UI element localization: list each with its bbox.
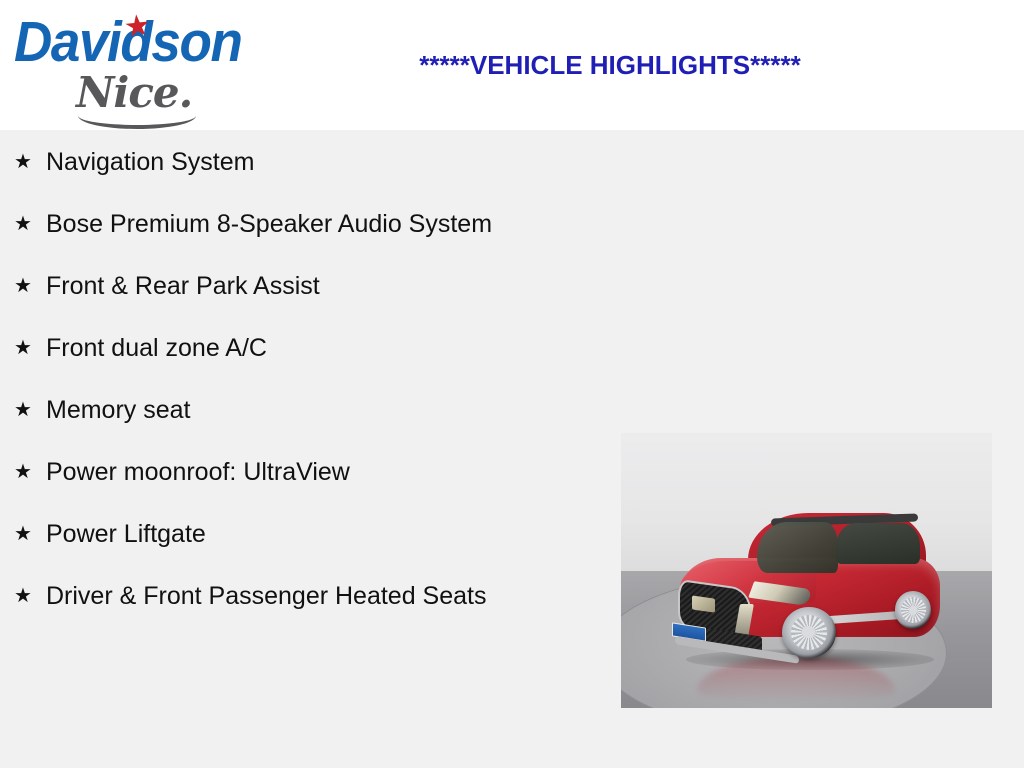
list-item-label: Memory seat xyxy=(46,392,496,428)
vehicle-highlights-list: ★ Navigation System ★ Bose Premium 8-Spe… xyxy=(0,144,540,640)
car-windshield xyxy=(757,522,839,573)
logo-swoosh-underline xyxy=(78,113,196,129)
car-front-wheel xyxy=(782,607,836,658)
list-item: ★ Bose Premium 8-Speaker Audio System xyxy=(0,206,540,242)
list-item-label: Bose Premium 8-Speaker Audio System xyxy=(46,206,496,242)
star-bullet-icon: ★ xyxy=(14,454,46,490)
car-side-window xyxy=(836,523,921,564)
star-bullet-icon: ★ xyxy=(14,144,46,180)
dealer-logo[interactable]: Davidson ★ Nice. xyxy=(10,6,280,128)
list-item: ★ Navigation System xyxy=(0,144,540,180)
star-bullet-icon: ★ xyxy=(14,268,46,304)
page-content: ★ Navigation System ★ Bose Premium 8-Spe… xyxy=(0,130,1024,768)
list-item-label: Power moonroof: UltraView xyxy=(46,454,496,490)
list-item: ★ Front dual zone A/C xyxy=(0,330,540,366)
list-item-label: Power Liftgate xyxy=(46,516,496,552)
list-item: ★ Front & Rear Park Assist xyxy=(0,268,540,304)
list-item: ★ Power moonroof: UltraView xyxy=(0,454,540,490)
star-icon: ★ xyxy=(123,11,153,44)
star-bullet-icon: ★ xyxy=(14,392,46,428)
car-illustration xyxy=(669,513,951,664)
list-item-label: Navigation System xyxy=(46,144,496,180)
list-item-label: Front dual zone A/C xyxy=(46,330,496,366)
list-item: ★ Power Liftgate xyxy=(0,516,540,552)
list-item-label: Driver & Front Passenger Heated Seats xyxy=(46,578,496,614)
page-title: *****VEHICLE HIGHLIGHTS***** xyxy=(300,50,920,81)
star-bullet-icon: ★ xyxy=(14,330,46,366)
star-bullet-icon: ★ xyxy=(14,206,46,242)
list-item: ★ Memory seat xyxy=(0,392,540,428)
page-header: Davidson ★ Nice. *****VEHICLE HIGHLIGHTS… xyxy=(0,0,1024,130)
vehicle-photo[interactable] xyxy=(621,433,992,708)
list-item-label: Front & Rear Park Assist xyxy=(46,268,496,304)
list-item: ★ Driver & Front Passenger Heated Seats xyxy=(0,578,540,614)
logo-sub-text: Nice. xyxy=(76,72,192,114)
star-bullet-icon: ★ xyxy=(14,578,46,614)
star-bullet-icon: ★ xyxy=(14,516,46,552)
